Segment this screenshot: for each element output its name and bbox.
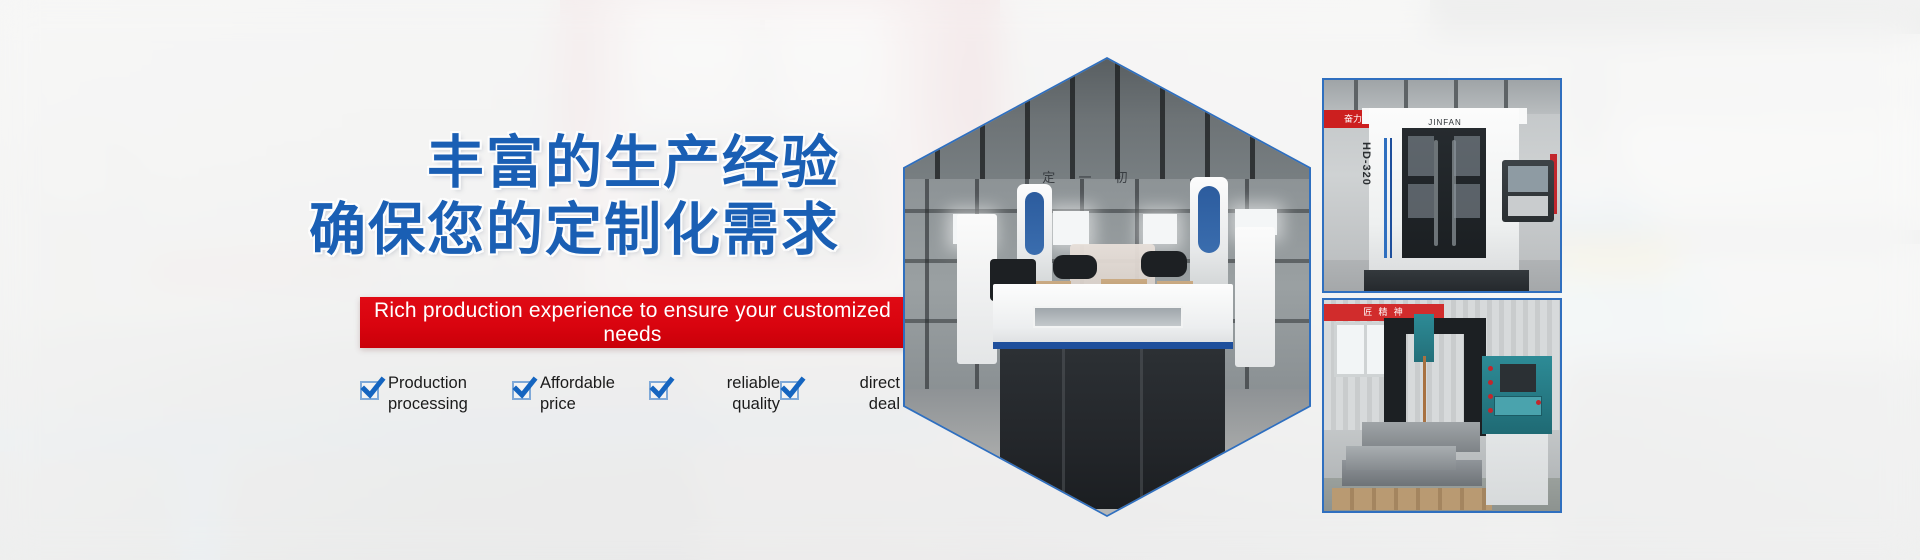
feature-label: Production processing [388, 373, 468, 415]
feature-label-line-1: Affordable [540, 374, 615, 392]
feature-label-line-1: reliable [727, 374, 780, 392]
feature-label-line-2: price [540, 395, 576, 413]
thumb1-glass-c [1408, 184, 1434, 218]
thumb2-spark-head [1414, 314, 1434, 362]
subtitle-bar: Rich production experience to ensure you… [360, 297, 905, 348]
thumb1-control-buttons [1508, 196, 1548, 216]
thumb1-glass-a [1408, 136, 1434, 176]
thumbnail-machining-center[interactable]: 奋力 HD-320 JINFAN [1322, 78, 1562, 293]
hexagon-border: 定 一 初 [903, 57, 1311, 517]
machine-window-slot [1033, 306, 1183, 328]
thumb2-scene: 匠 精 神 [1324, 300, 1560, 511]
machine-blue-trim [993, 342, 1233, 349]
thumb1-stripe-b [1390, 138, 1392, 258]
thumb2-indicator-c [1488, 394, 1493, 399]
thumb2-indicator-d [1488, 408, 1493, 413]
machine-right-column [1235, 227, 1275, 367]
thumb1-stripe-a [1384, 138, 1387, 258]
promo-banner: 丰富的生产经验 确保您的定制化需求 Rich production experi… [0, 0, 1920, 560]
thumb1-control-screen [1508, 166, 1548, 192]
feature-item-affordable-price[interactable]: Affordable price [512, 373, 649, 415]
feature-label-line-2: quality [732, 395, 780, 413]
headline-line-1: 丰富的生产经验 [0, 130, 840, 197]
thumb2-control-screen [1500, 364, 1536, 392]
headline: 丰富的生产经验 确保您的定制化需求 [0, 130, 900, 264]
factory-scene: 定 一 初 [905, 59, 1309, 515]
feature-label: direct deal [808, 373, 900, 415]
feature-label: Affordable price [540, 373, 615, 415]
feature-item-reliable-quality[interactable]: reliable quality [649, 373, 780, 415]
hexagon-photo: 定 一 初 [905, 59, 1309, 515]
scene-window-b [1053, 211, 1089, 245]
hero-hexagon-image[interactable]: 定 一 初 [903, 57, 1311, 517]
check-icon [360, 381, 379, 400]
feature-label-line-1: direct [860, 374, 900, 392]
feature-label: reliable quality [677, 373, 780, 415]
thumb2-indicator-a [1488, 366, 1493, 371]
feature-item-production-processing[interactable]: Production processing [360, 373, 512, 415]
feature-label-line-1: Production [388, 374, 467, 392]
thumb1-machine-label: HD-320 [1360, 142, 1372, 202]
feature-label-line-2: deal [869, 395, 900, 413]
thumb2-electrode-wire [1423, 356, 1426, 426]
thumb1-glass-b [1454, 136, 1480, 176]
check-icon [649, 381, 668, 400]
check-icon [512, 381, 531, 400]
feature-item-direct-deal[interactable]: direct deal [780, 373, 900, 415]
scene-window-c [1143, 214, 1177, 244]
machine-base [1000, 349, 1225, 509]
subtitle-text: Rich production experience to ensure you… [360, 299, 905, 347]
thumb2-control-keypad [1494, 396, 1542, 416]
thumb2-wood-pallet [1332, 488, 1492, 510]
thumb1-scene: 奋力 HD-320 JINFAN [1324, 80, 1560, 291]
thumb2-indicator-b [1488, 380, 1493, 385]
check-icon [780, 381, 799, 400]
thumbnail-edm-machine[interactable]: 匠 精 神 [1322, 298, 1562, 513]
thumb1-glass-d [1454, 184, 1480, 218]
machine-spindle-right [1190, 177, 1228, 289]
feature-list: Production processing Affordable price [360, 373, 920, 429]
thumb1-machine-plinth [1364, 270, 1529, 293]
thumb2-gantry-column-left [1384, 322, 1406, 432]
feature-label-line-2: processing [388, 395, 468, 413]
machine-dark-block-c [1141, 251, 1187, 277]
thumb2-work-table [1346, 446, 1456, 470]
thumb1-brand-mark: JINFAN [1420, 118, 1470, 127]
headline-line-2: 确保您的定制化需求 [0, 197, 840, 264]
machine-dark-block-b [1053, 255, 1097, 279]
thumb2-indicator-e [1536, 400, 1541, 405]
